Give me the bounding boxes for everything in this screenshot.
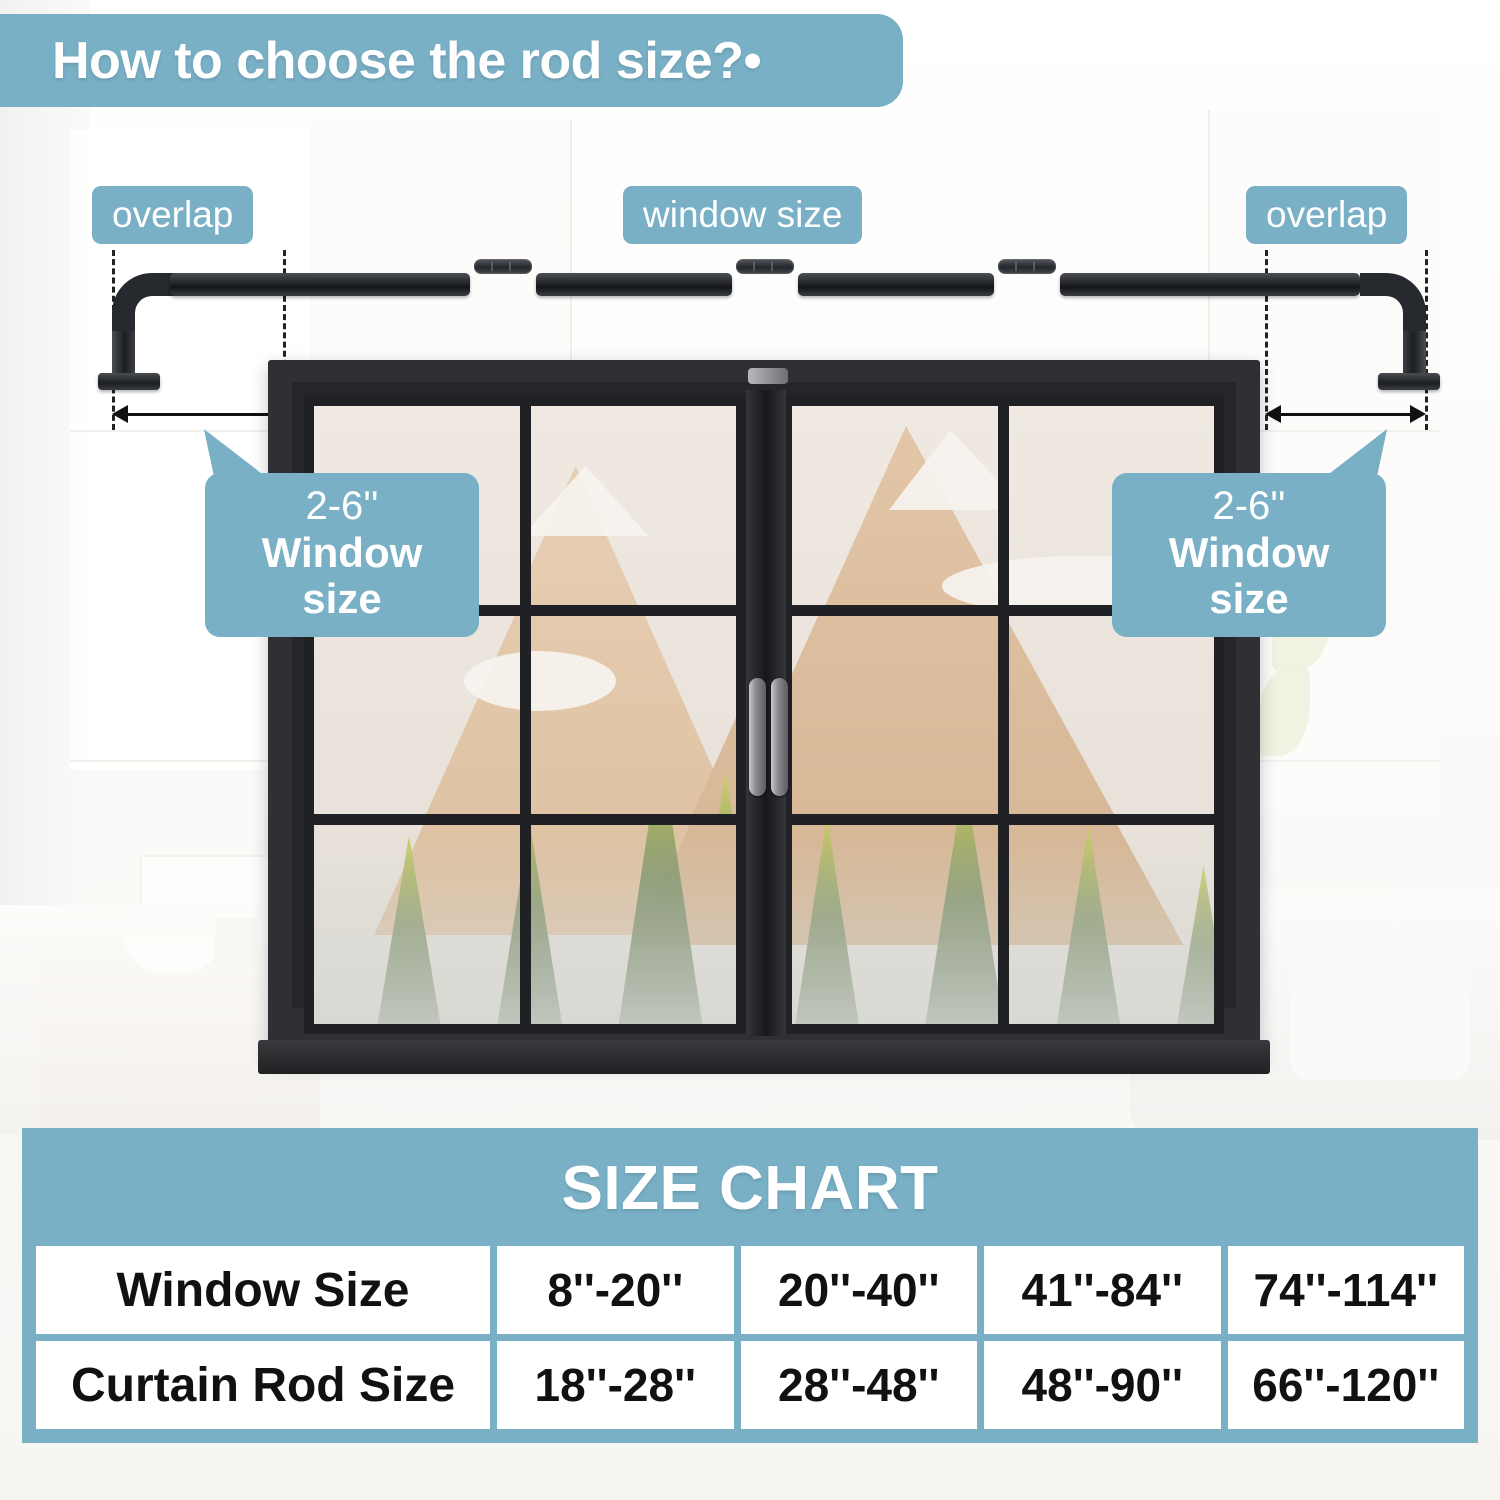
arrowhead-right-icon [1410, 405, 1426, 423]
window-pane [314, 616, 520, 815]
rod-wall-bracket [1378, 373, 1440, 390]
door-handle-left[interactable] [749, 678, 766, 796]
window-pane [531, 616, 737, 815]
window-pane [792, 406, 998, 605]
top-hinge [748, 368, 788, 384]
window-pane [1009, 825, 1215, 1024]
window-sill [258, 1040, 1270, 1074]
scenery [792, 825, 998, 1024]
scenery [314, 616, 520, 815]
rod-segment-1 [170, 273, 470, 296]
header-banner: How to choose the rod size?• [0, 14, 903, 107]
window-pane [531, 825, 737, 1024]
table-cell: 20''-40'' [741, 1246, 978, 1334]
cushion [1290, 930, 1470, 1080]
callout-range: 2-6'' [227, 485, 457, 528]
window-pane [314, 825, 520, 1024]
row-header: Curtain Rod Size [36, 1341, 490, 1429]
size-chart-table: Window Size 8''-20'' 20''-40'' 41''-84''… [36, 1246, 1464, 1429]
window-pane [792, 825, 998, 1024]
callout-overlap-right: 2-6'' Window size [1112, 473, 1386, 637]
size-chart: SIZE CHART Window Size 8''-20'' 20''-40'… [22, 1128, 1478, 1443]
table-cell: 18''-28'' [497, 1341, 734, 1429]
rod-connector-3 [998, 259, 1056, 274]
scenery [1009, 825, 1215, 1024]
scenery [792, 616, 998, 815]
callout-caption: Window size [1134, 530, 1364, 621]
rod-segment-4 [1060, 273, 1360, 296]
rod-segment-2 [536, 273, 732, 296]
overlap-dimension-right [1265, 403, 1426, 425]
window-pane [1009, 616, 1215, 815]
row-header: Window Size [36, 1246, 490, 1334]
rod-wall-bracket [98, 373, 160, 390]
callout-range: 2-6'' [1134, 485, 1364, 528]
rod-elbow-left [112, 273, 178, 381]
page-title: How to choose the rod size?• [0, 31, 761, 91]
rod-elbow-right [1360, 273, 1426, 381]
label-overlap-left: overlap [92, 186, 253, 244]
table-row: Curtain Rod Size 18''-28'' 28''-48'' 48'… [36, 1341, 1464, 1429]
table-cell: 66''-120'' [1228, 1341, 1465, 1429]
table-cell: 48''-90'' [984, 1341, 1221, 1429]
callout-caption: Window size [227, 530, 457, 621]
callout-overlap-left: 2-6'' Window size [205, 473, 479, 637]
scenery [531, 825, 737, 1024]
table-cell: 8''-20'' [497, 1246, 734, 1334]
rod-segment-3 [798, 273, 994, 296]
table-row: Window Size 8''-20'' 20''-40'' 41''-84''… [36, 1246, 1464, 1334]
window-pane [531, 406, 737, 605]
table-cell: 28''-48'' [741, 1341, 978, 1429]
rod-connector-2 [736, 259, 794, 274]
scenery [1009, 616, 1215, 815]
scenery [792, 406, 998, 605]
callout-tail [204, 429, 266, 477]
window-illustration [268, 360, 1260, 1060]
overlap-dimension-left [112, 403, 284, 425]
label-window-size: window size [623, 186, 862, 244]
table-cell: 74''-114'' [1228, 1246, 1465, 1334]
scenery [531, 406, 737, 605]
rod-connector-1 [474, 259, 532, 274]
scenery [531, 616, 737, 815]
door-handle-right[interactable] [771, 678, 788, 796]
window-pane [792, 616, 998, 815]
size-chart-title: SIZE CHART [22, 1128, 1478, 1248]
label-overlap-right: overlap [1246, 186, 1407, 244]
infographic-root: How to choose the rod size?• overlap win… [0, 0, 1500, 1500]
table-cell: 41''-84'' [984, 1246, 1221, 1334]
dimension-bar [1275, 413, 1416, 416]
scenery [314, 825, 520, 1024]
decor-vase [215, 918, 257, 966]
callout-tail [1325, 429, 1387, 477]
dimension-bar [122, 413, 274, 416]
